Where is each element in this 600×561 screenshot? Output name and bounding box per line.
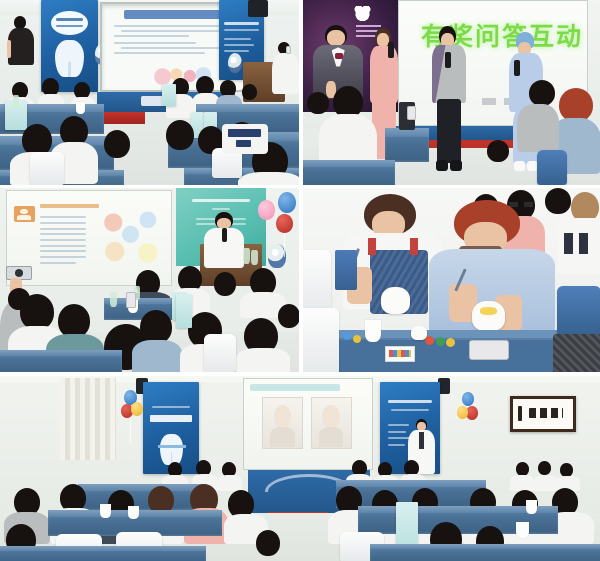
gift-bag bbox=[176, 294, 192, 328]
chair-back bbox=[303, 250, 331, 314]
slide-illustration bbox=[96, 204, 168, 270]
after-portrait bbox=[311, 397, 352, 449]
balloon-blue bbox=[278, 192, 296, 213]
desk-foreground bbox=[303, 160, 395, 185]
desk-row-front-left bbox=[0, 546, 206, 561]
ceramic-figurine[interactable] bbox=[411, 326, 427, 340]
slide-title-bar bbox=[124, 10, 221, 19]
balloon-string bbox=[284, 233, 285, 257]
speaker-box bbox=[248, 0, 268, 17]
panel-mid-right bbox=[303, 188, 600, 372]
smartphone bbox=[126, 292, 136, 308]
ceramic-figurine[interactable] bbox=[472, 301, 505, 331]
panel-mid-left bbox=[0, 188, 299, 372]
person-female-dentist bbox=[204, 212, 244, 268]
photo-collage: 有奖问答互动 bbox=[0, 0, 600, 561]
balloon-blue bbox=[462, 392, 474, 406]
color-chart bbox=[385, 346, 415, 362]
balloon-yellow bbox=[457, 406, 468, 419]
microphone[interactable] bbox=[222, 228, 227, 242]
balloon-string bbox=[130, 418, 131, 444]
desk-front bbox=[0, 350, 122, 372]
paper-cup bbox=[526, 500, 537, 514]
chair-back bbox=[557, 286, 600, 336]
microphone[interactable] bbox=[445, 52, 451, 68]
balloon-pink bbox=[258, 200, 275, 220]
microphone[interactable] bbox=[514, 60, 520, 76]
blue-chair-strip bbox=[335, 250, 357, 290]
smartphone[interactable] bbox=[469, 340, 509, 360]
participant-painting-right bbox=[429, 200, 555, 336]
frame-seal bbox=[518, 406, 522, 422]
smartphone bbox=[286, 46, 292, 55]
tshirt-graphic bbox=[222, 124, 268, 154]
wall-frame-calligraphy bbox=[510, 396, 576, 432]
panel-top-left bbox=[0, 0, 299, 185]
paint-palette bbox=[425, 336, 434, 345]
desk-row-front-right bbox=[370, 544, 600, 561]
slide-icon bbox=[14, 206, 35, 222]
paint-palette bbox=[436, 337, 445, 346]
frame-characters bbox=[529, 408, 564, 418]
balloon-yellow bbox=[131, 402, 143, 416]
standing-woman-left bbox=[6, 16, 36, 76]
paper-cup bbox=[365, 320, 381, 342]
panel-top-right: 有奖问答互动 bbox=[303, 0, 600, 185]
ceramic-figurine[interactable] bbox=[381, 287, 410, 314]
hello-kitty-graphic bbox=[352, 6, 373, 22]
chair-back bbox=[553, 334, 600, 372]
chair-back bbox=[204, 334, 236, 372]
before-portrait bbox=[262, 397, 303, 449]
microphone[interactable] bbox=[388, 42, 394, 58]
banner-headline bbox=[150, 415, 193, 422]
paint-palette bbox=[446, 338, 455, 347]
panel-bottom bbox=[0, 376, 600, 561]
standing-man-right bbox=[272, 42, 299, 104]
graphic-sweatshirt bbox=[557, 218, 600, 274]
chair-back bbox=[30, 152, 64, 185]
paint-palette bbox=[353, 335, 361, 343]
slide-title-bar bbox=[250, 384, 340, 391]
chair-back bbox=[537, 150, 567, 185]
paint-palette bbox=[343, 332, 351, 340]
chair-back bbox=[303, 308, 339, 372]
slide-title bbox=[40, 204, 99, 208]
balloon-red bbox=[276, 214, 293, 233]
